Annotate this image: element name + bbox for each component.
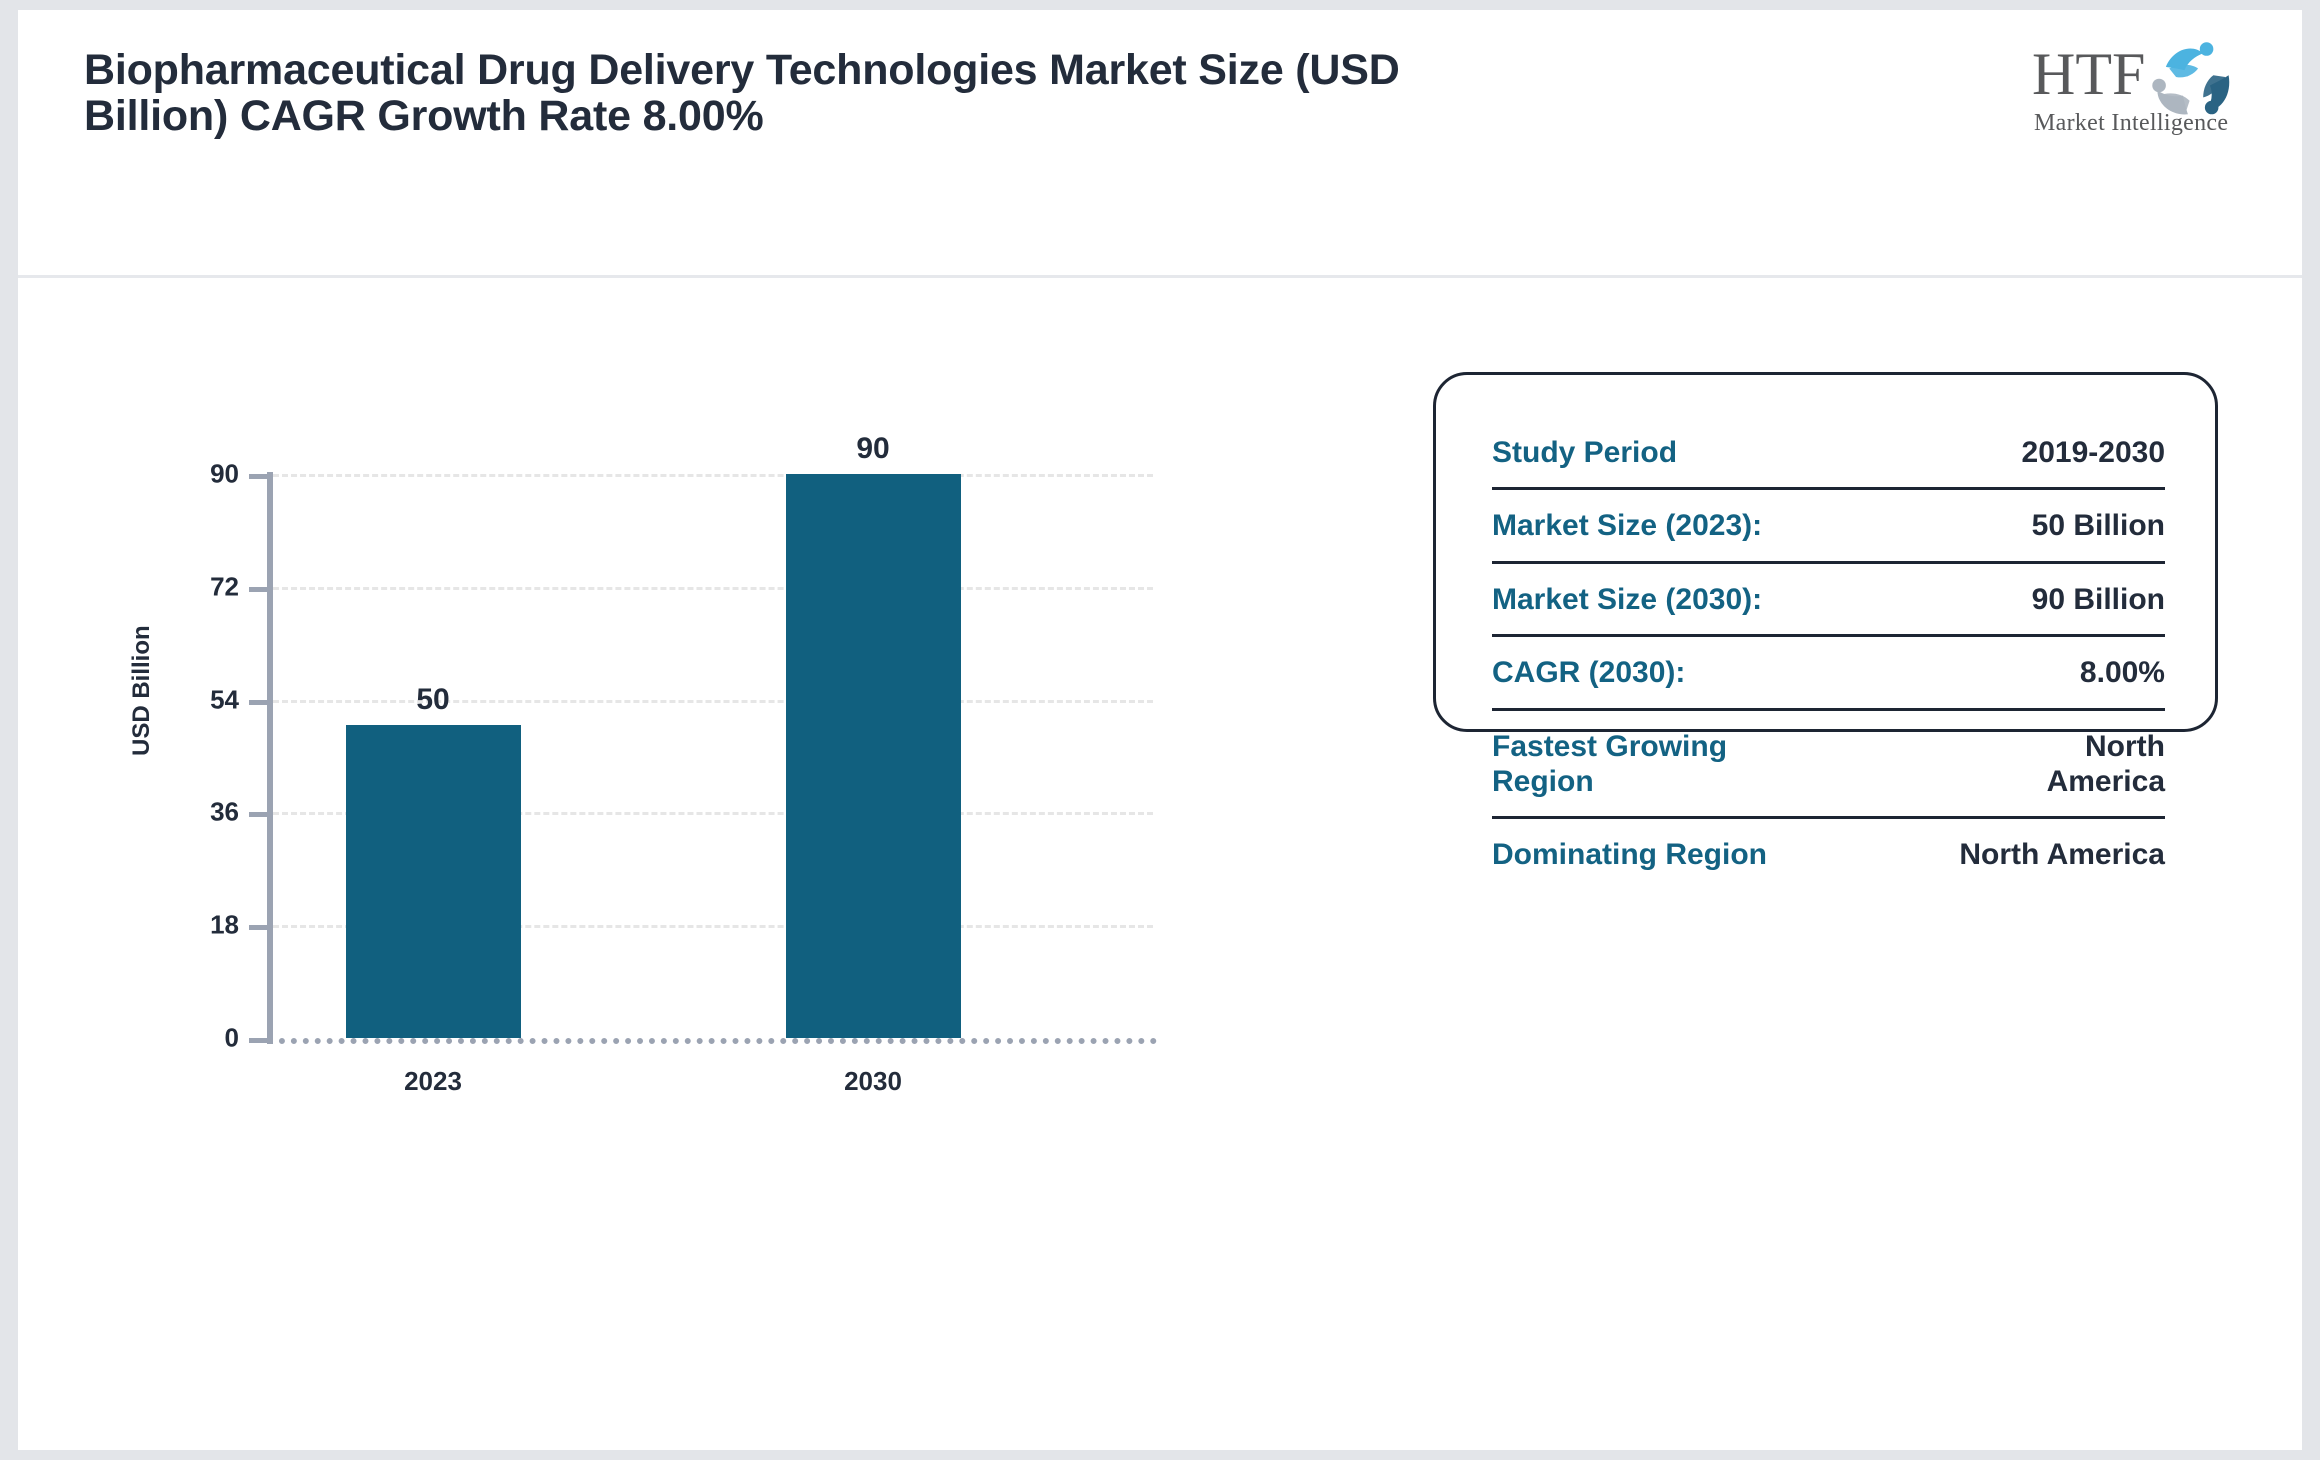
summary-row: Study Period2019-2030 xyxy=(1492,417,2165,490)
summary-row-label: Study Period xyxy=(1492,435,1677,470)
summary-row-label: Market Size (2030): xyxy=(1492,582,1762,617)
y-axis-tick-label: 54 xyxy=(119,684,239,715)
summary-row-label: Fastest Growing Region xyxy=(1492,729,1822,800)
bar[interactable] xyxy=(786,474,961,1038)
y-axis-tick-label: 72 xyxy=(119,571,239,602)
y-axis-tick xyxy=(249,700,269,705)
y-axis-tick-label: 90 xyxy=(119,459,239,490)
market-summary-card: Study Period2019-2030Market Size (2023):… xyxy=(1433,372,2218,732)
summary-row-value: 90 Billion xyxy=(2032,582,2165,617)
bar-value-label: 50 xyxy=(346,683,521,717)
summary-row-value: 8.00% xyxy=(2080,655,2165,690)
summary-row-label: Dominating Region xyxy=(1492,837,1767,872)
summary-row-value: North America xyxy=(2005,729,2165,800)
summary-row: Market Size (2030):90 Billion xyxy=(1492,564,2165,637)
y-axis-tick xyxy=(249,925,269,930)
y-axis-tick xyxy=(249,474,269,479)
x-axis-tick-label: 2030 xyxy=(786,1066,961,1097)
x-axis-tick-label: 2023 xyxy=(346,1066,521,1097)
summary-row-value: 2019-2030 xyxy=(2022,435,2165,470)
summary-row-value: 50 Billion xyxy=(2032,508,2165,543)
three-people-circle-icon xyxy=(2150,38,2236,116)
y-axis-tick xyxy=(249,587,269,592)
bar[interactable] xyxy=(346,725,521,1038)
y-axis-tick xyxy=(249,1038,269,1043)
bar-chart: USD Billion 01836547290502023902030 xyxy=(18,278,1258,1450)
summary-row: Dominating RegionNorth America xyxy=(1492,819,2165,889)
y-axis-tick-label: 0 xyxy=(119,1023,239,1054)
summary-row-label: CAGR (2030): xyxy=(1492,655,1685,690)
y-axis-tick xyxy=(249,812,269,817)
y-gridline xyxy=(273,474,1153,477)
page-title: Biopharmaceutical Drug Delivery Technolo… xyxy=(84,48,1414,139)
header: Biopharmaceutical Drug Delivery Technolo… xyxy=(18,10,2302,278)
y-axis-tick-label: 18 xyxy=(119,910,239,941)
logo-wordmark: HTF xyxy=(2032,44,2145,104)
y-axis-line xyxy=(267,472,273,1044)
brand-logo: HTF Market Intelligence xyxy=(2032,38,2232,150)
summary-row: Market Size (2023):50 Billion xyxy=(1492,490,2165,563)
y-axis-tick-label: 36 xyxy=(119,797,239,828)
summary-row-list: Study Period2019-2030Market Size (2023):… xyxy=(1492,417,2165,890)
bar-value-label: 90 xyxy=(786,432,961,466)
summary-row: Fastest Growing RegionNorth America xyxy=(1492,711,2165,820)
summary-row-label: Market Size (2023): xyxy=(1492,508,1762,543)
plot-area: 01836547290502023902030 xyxy=(273,474,1153,1038)
summary-row-value: North America xyxy=(1959,837,2165,872)
page-canvas: Biopharmaceutical Drug Delivery Technolo… xyxy=(18,10,2302,1450)
x-axis-line xyxy=(267,1038,1157,1044)
y-gridline xyxy=(273,587,1153,590)
summary-row: CAGR (2030):8.00% xyxy=(1492,637,2165,710)
